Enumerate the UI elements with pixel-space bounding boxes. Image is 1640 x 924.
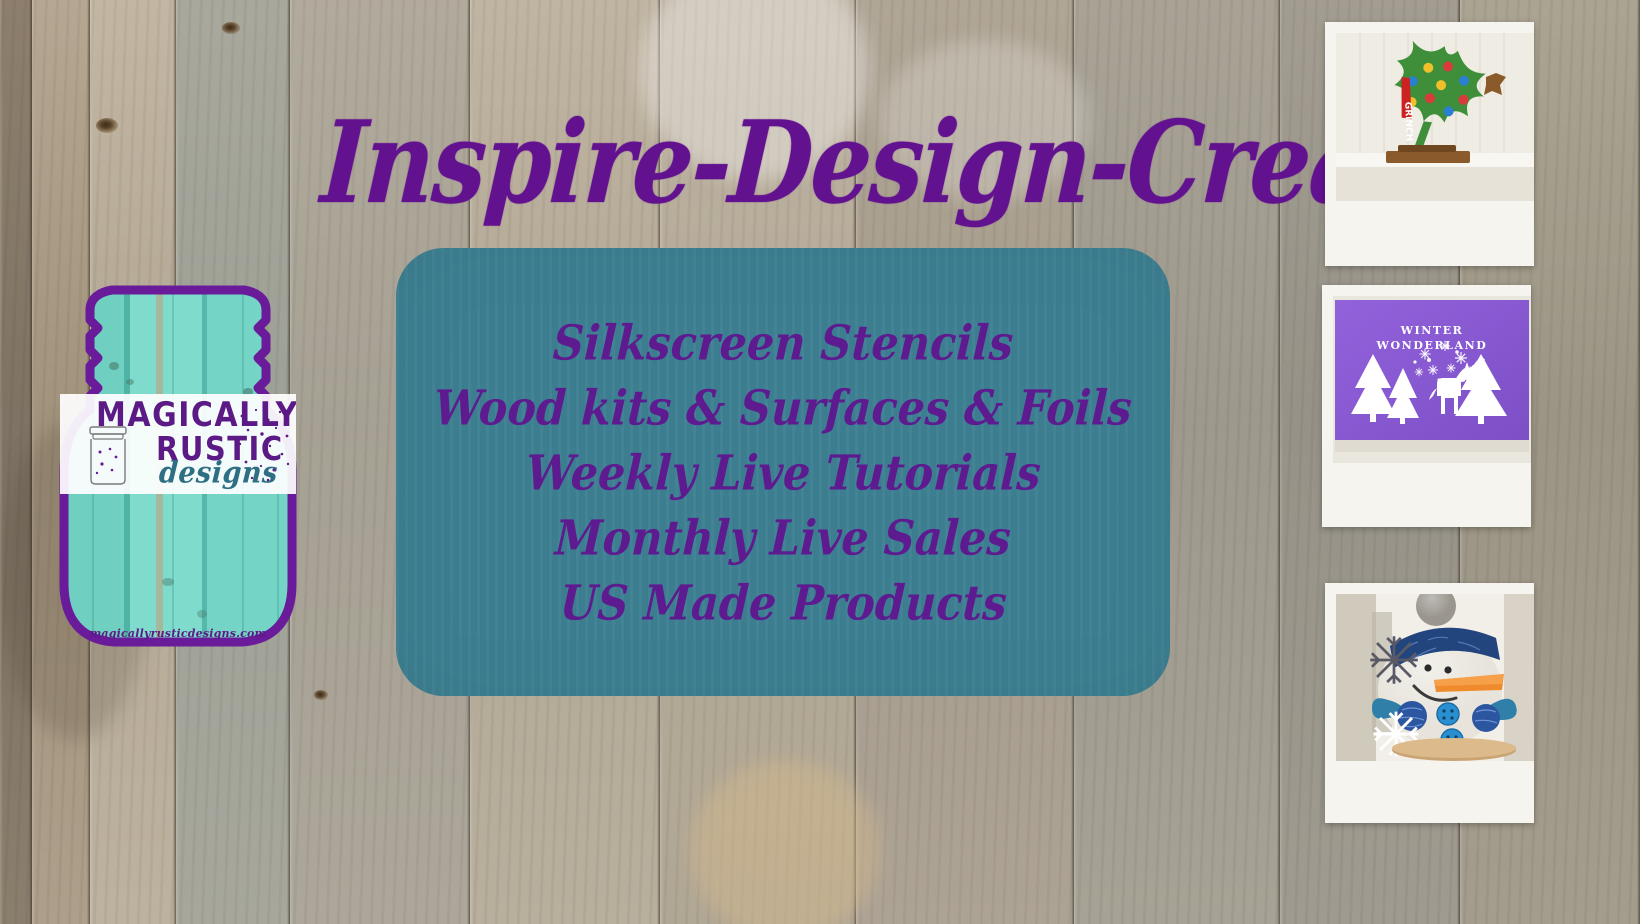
photo-card-snowman[interactable] xyxy=(1325,583,1534,823)
svg-text:GRINCH: GRINCH xyxy=(1402,102,1413,142)
wood-knot xyxy=(222,22,240,34)
list-item: Weekly Live Tutorials xyxy=(524,450,1041,498)
photo-card-winter-wonderland[interactable]: WINTER WONDERLAND xyxy=(1322,285,1531,527)
logo-website-url: magicallyrusticdesigns.com xyxy=(52,627,304,640)
svg-text:WINTER: WINTER xyxy=(1400,324,1464,337)
brand-logo[interactable]: MAGICALLY RUSTIC designs llc magicallyru… xyxy=(52,258,304,658)
list-item: US Made Products xyxy=(559,580,1008,628)
wood-knot xyxy=(314,690,328,700)
dot-spray-icon xyxy=(232,402,294,486)
photo-image-winter-wonderland: WINTER WONDERLAND xyxy=(1333,296,1531,463)
photo-image-grinch-tree: GRINCH xyxy=(1336,33,1534,201)
page-title: Inspire-Design-Create xyxy=(318,86,1267,237)
logo-text-band: MAGICALLY RUSTIC designs llc xyxy=(60,394,296,494)
list-item: Monthly Live Sales xyxy=(554,515,1012,563)
list-item: Wood kits & Surfaces & Foils xyxy=(433,385,1133,433)
svg-text:WONDERLAND: WONDERLAND xyxy=(1376,339,1488,352)
list-item: Silkscreen Stencils xyxy=(552,320,1014,368)
feature-panel: Silkscreen Stencils Wood kits & Surfaces… xyxy=(396,248,1170,696)
feature-list: Silkscreen Stencils Wood kits & Surfaces… xyxy=(396,248,1170,696)
wood-knot xyxy=(96,118,118,133)
poster-canvas: Inspire-Design-Create Silkscreen Stencil… xyxy=(0,0,1640,924)
photo-card-grinch-tree[interactable]: GRINCH xyxy=(1325,22,1534,266)
photo-image-snowman xyxy=(1336,594,1534,761)
